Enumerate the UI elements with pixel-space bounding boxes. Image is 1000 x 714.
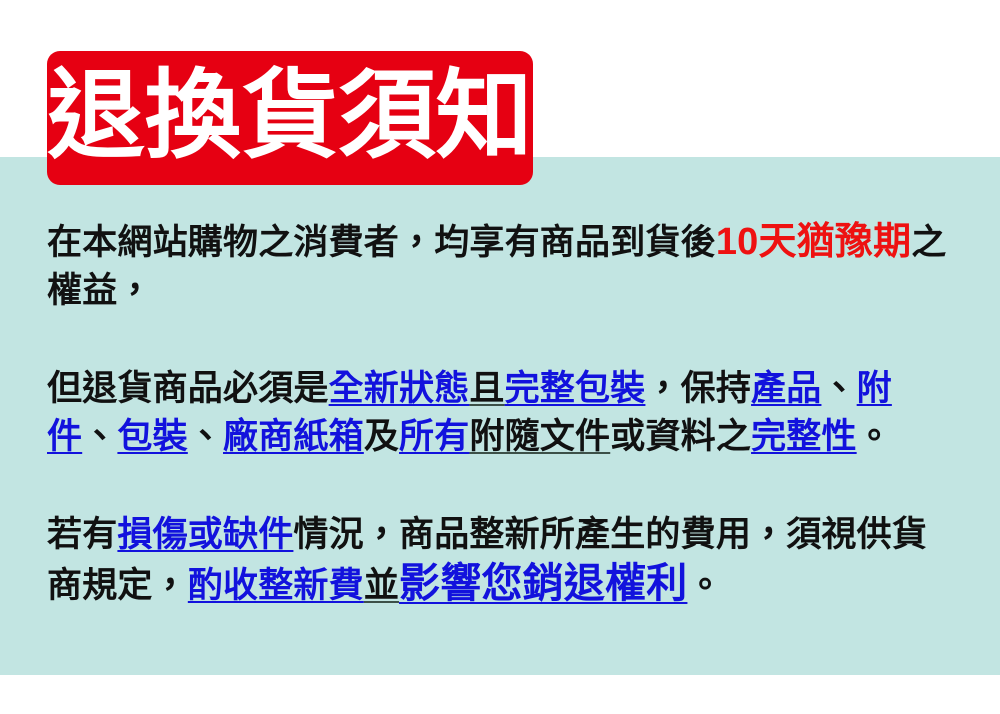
paragraph-return-period: 在本網站購物之消費者，均享有商品到貨後10天猶豫期之權益， <box>47 218 959 315</box>
text-run-black-underlined: 附隨文件 <box>469 417 610 456</box>
text-run-plain: 及 <box>364 417 399 456</box>
text-run-blue-underlined: 損傷或缺件 <box>117 515 293 554</box>
text-run-blue-underlined: 產品 <box>751 369 821 408</box>
text-run-blue-underlined: 完整包裝 <box>505 369 646 408</box>
text-run-plain: 但退貨商品必須是 <box>47 369 329 408</box>
text-run-plain: 或資料之 <box>610 417 751 456</box>
bottom-white-band <box>0 675 1000 714</box>
paragraph-return-condition: 但退貨商品必須是全新狀態且完整包裝，保持產品、附件、包裝、廠商紙箱及所有附隨文件… <box>47 365 959 461</box>
text-run-plain: 在本網站購物之消費者，均享有商品到貨後 <box>47 223 716 262</box>
text-run-plain: 、 <box>82 417 117 456</box>
header-badge: 退換貨須知 <box>47 51 533 185</box>
text-run-plain: 、 <box>821 369 856 408</box>
page-title: 退換貨須知 <box>48 67 533 170</box>
text-run-blue-emphasis: 影響您銷退權利 <box>399 560 687 606</box>
text-run-blue-underlined: 包裝 <box>117 417 187 456</box>
text-run-blue-underlined: 酌收整新費 <box>188 566 364 605</box>
text-run-black-underlined: 並 <box>364 566 399 605</box>
text-run-blue-underlined: 廠商紙箱 <box>223 417 364 456</box>
page-root: 退換貨須知 在本網站購物之消費者，均享有商品到貨後10天猶豫期之權益， 但退貨商… <box>0 0 1000 714</box>
paragraph-damage-fee: 若有損傷或缺件情況，商品整新所產生的費用，須視供貨商規定，酌收整新費並影響您銷退… <box>47 511 959 610</box>
notice-content: 在本網站購物之消費者，均享有商品到貨後10天猶豫期之權益， 但退貨商品必須是全新… <box>47 218 959 610</box>
text-run-plain: 。 <box>857 417 892 456</box>
text-run-blue-underlined: 全新狀態 <box>329 369 470 408</box>
text-run-plain: 。 <box>687 566 722 605</box>
text-run-plain: 、 <box>188 417 223 456</box>
text-run-plain: ，保持 <box>645 369 751 408</box>
text-run-red-emphasis: 10天猶豫期 <box>716 221 911 263</box>
text-run-plain: 若有 <box>47 515 117 554</box>
text-run-blue-underlined: 完整性 <box>751 417 857 456</box>
text-run-black-underlined: 且 <box>469 369 504 408</box>
text-run-blue-underlined: 所有 <box>399 417 469 456</box>
